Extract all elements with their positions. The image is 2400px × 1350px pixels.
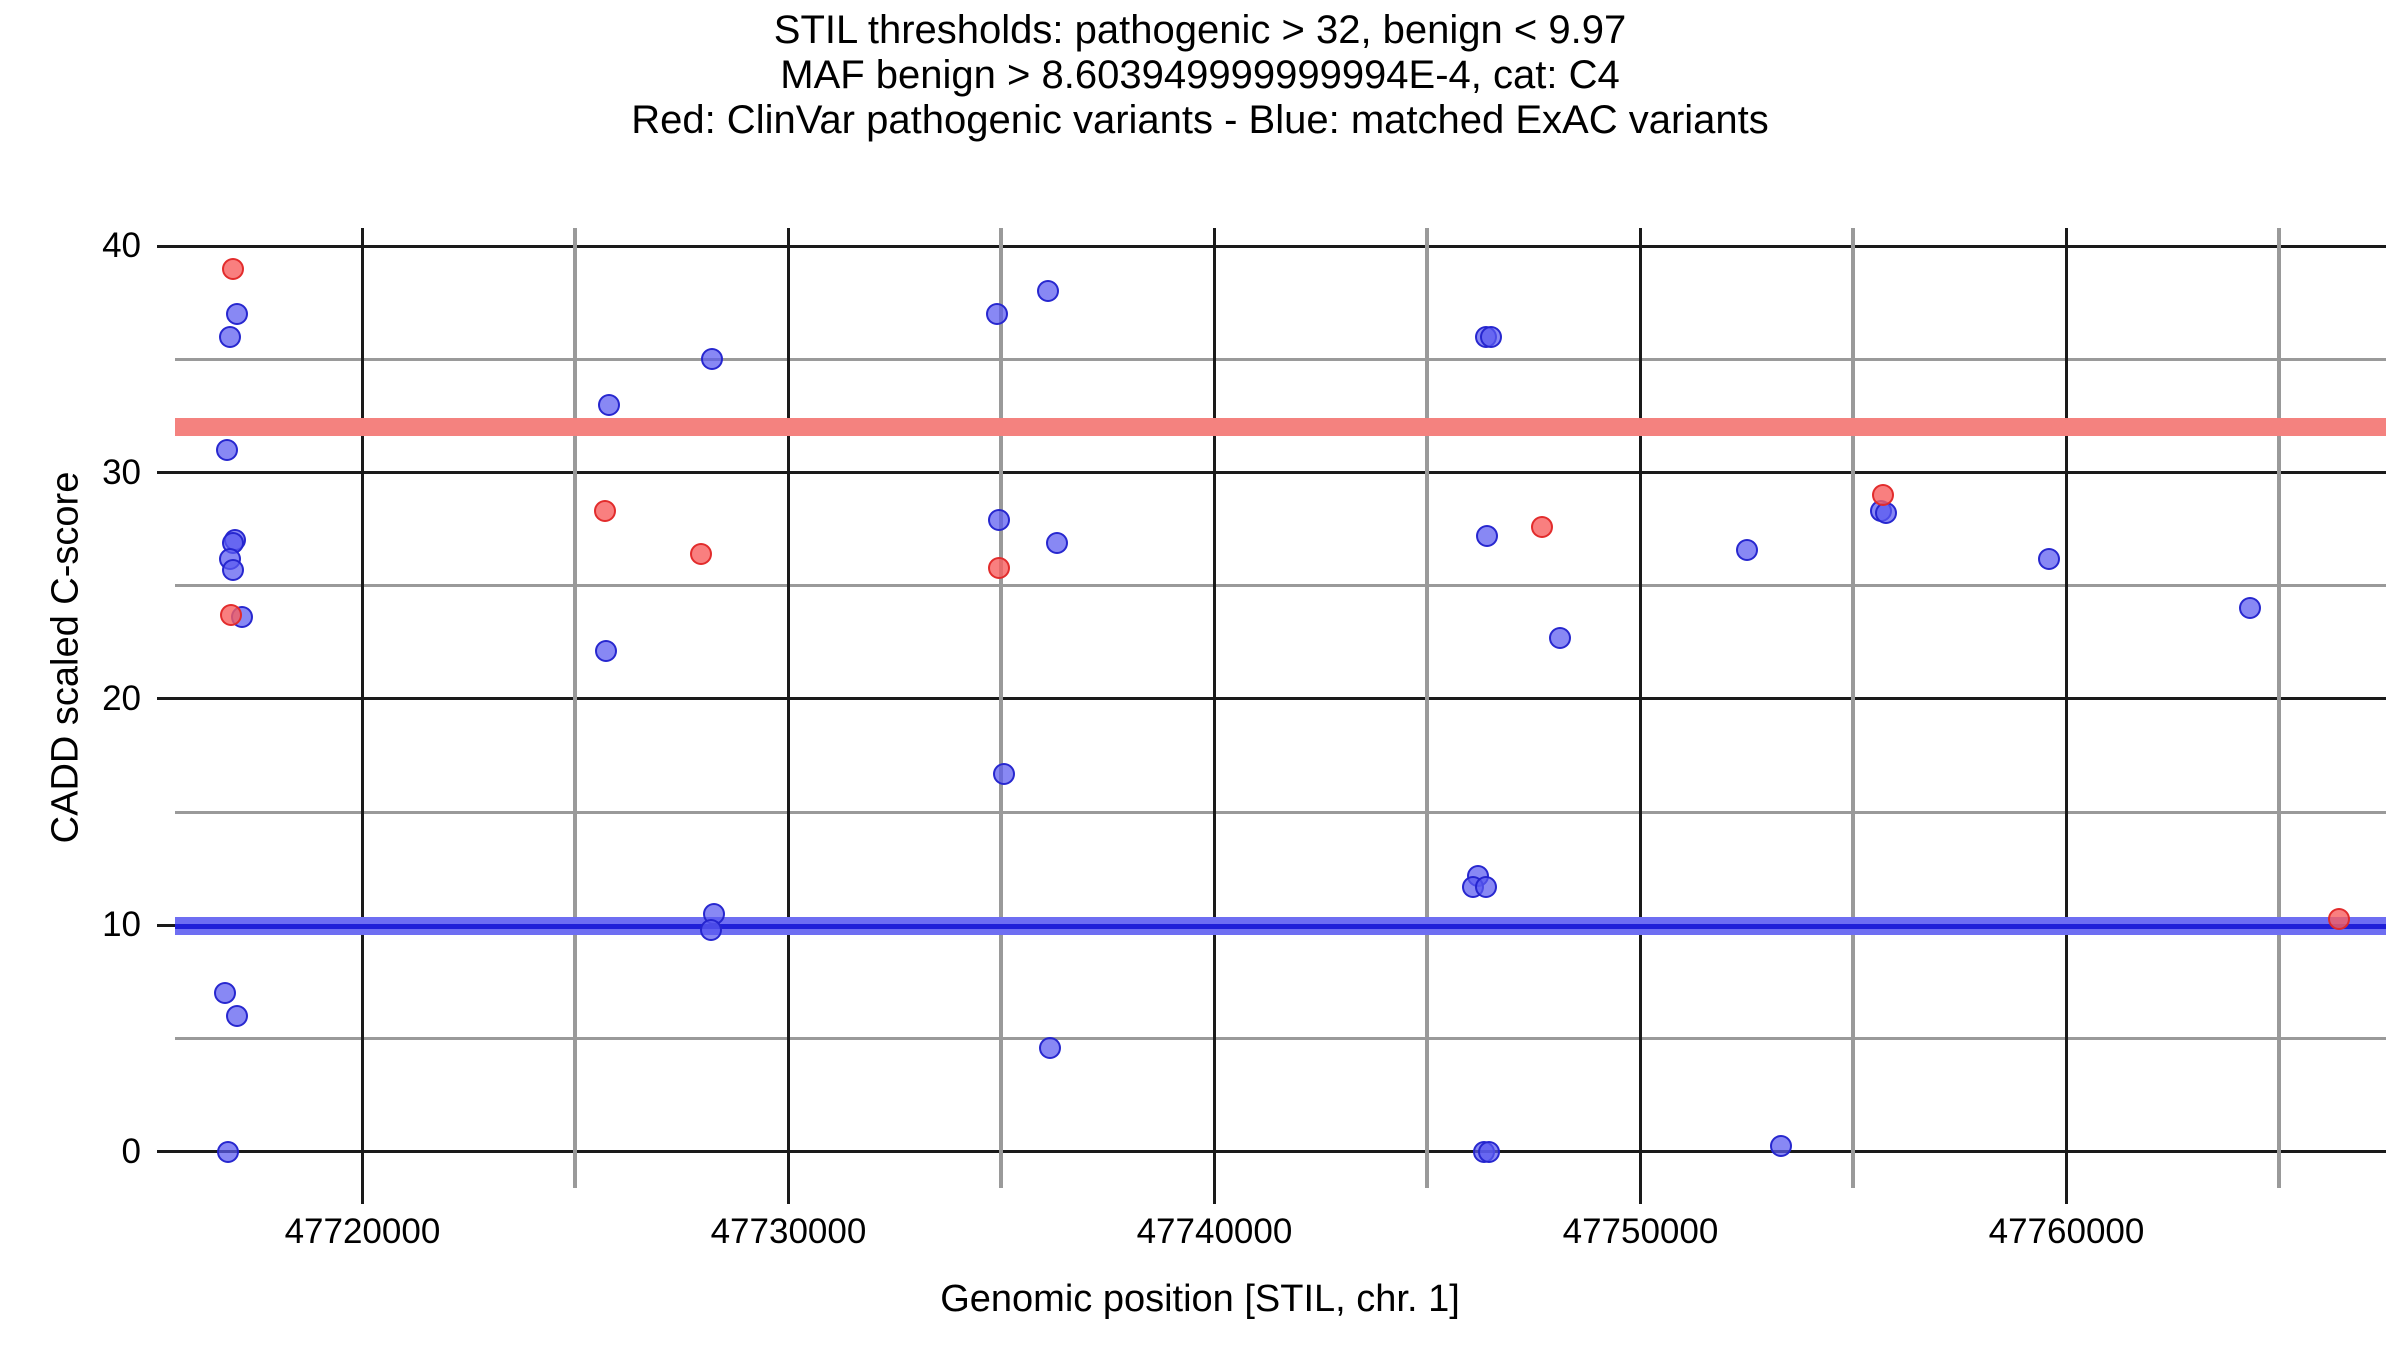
data-point-exac	[700, 919, 722, 941]
x-axis-tick-mark	[2065, 1188, 2068, 1204]
x-axis-tick-mark	[1639, 1188, 1642, 1204]
y-axis-label: CADD scaled C-score	[45, 258, 88, 1058]
data-point-exac	[993, 763, 1015, 785]
y-axis-tick-mark	[157, 1150, 175, 1153]
data-point-exac	[1478, 1141, 1500, 1163]
y-axis-tick-label: 0	[0, 1134, 141, 1169]
data-point-pathogenic	[690, 543, 712, 565]
data-point-exac	[222, 559, 244, 581]
data-point-pathogenic	[988, 557, 1010, 579]
gridline-vertical-major	[1639, 228, 1642, 1188]
data-point-exac	[701, 348, 723, 370]
gridline-vertical-major	[787, 228, 790, 1188]
x-axis-label: Genomic position [STIL, chr. 1]	[0, 1278, 2400, 1321]
data-point-exac	[226, 303, 248, 325]
data-point-exac	[214, 982, 236, 1004]
y-axis-tick-mark	[157, 471, 175, 474]
gridline-vertical-minor	[1851, 228, 1855, 1188]
data-point-exac	[219, 326, 241, 348]
y-axis-tick-mark	[157, 245, 175, 248]
data-point-exac	[988, 509, 1010, 531]
data-point-exac	[1046, 532, 1068, 554]
gridline-horizontal-major	[175, 245, 2386, 248]
data-point-exac	[595, 640, 617, 662]
data-point-exac	[986, 303, 1008, 325]
data-point-exac	[1549, 627, 1571, 649]
data-point-exac	[216, 439, 238, 461]
data-point-exac	[2239, 597, 2261, 619]
data-point-pathogenic	[1531, 516, 1553, 538]
plot-area	[175, 228, 2386, 1188]
x-axis-tick-label: 47760000	[1989, 1214, 2145, 1249]
y-axis-tick-mark	[157, 924, 175, 927]
gridline-horizontal-minor	[175, 584, 2386, 587]
x-axis-tick-mark	[1213, 1188, 1216, 1204]
threshold-line-benign	[175, 924, 2386, 929]
data-point-exac	[1475, 876, 1497, 898]
data-point-exac	[226, 1005, 248, 1027]
data-point-pathogenic	[222, 258, 244, 280]
x-axis-tick-mark	[361, 1188, 364, 1204]
data-point-exac	[1476, 525, 1498, 547]
chart-title: STIL thresholds: pathogenic > 32, benign…	[0, 8, 2400, 143]
gridline-horizontal-minor	[175, 811, 2386, 814]
x-axis-tick-mark	[787, 1188, 790, 1204]
data-point-exac	[1770, 1135, 1792, 1157]
gridline-vertical-major	[1213, 228, 1216, 1188]
gridline-horizontal-minor	[175, 1037, 2386, 1040]
data-point-exac	[1736, 539, 1758, 561]
y-axis-tick-mark	[157, 697, 175, 700]
chart-title-line-1: STIL thresholds: pathogenic > 32, benign…	[0, 8, 2400, 53]
gridline-vertical-minor	[573, 228, 577, 1188]
gridline-horizontal-minor	[175, 358, 2386, 361]
gridline-vertical-minor	[2277, 228, 2281, 1188]
data-point-exac	[1480, 326, 1502, 348]
gridline-vertical-minor	[999, 228, 1003, 1188]
gridline-horizontal-major	[175, 1150, 2386, 1153]
data-point-exac	[1037, 280, 1059, 302]
x-axis-tick-label: 47730000	[711, 1214, 867, 1249]
data-point-exac	[598, 394, 620, 416]
data-point-exac	[217, 1141, 239, 1163]
x-axis-tick-label: 47740000	[1137, 1214, 1293, 1249]
x-axis-tick-label: 47720000	[285, 1214, 441, 1249]
data-point-pathogenic	[594, 500, 616, 522]
gridline-vertical-major	[2065, 228, 2068, 1188]
data-point-exac	[1039, 1037, 1061, 1059]
threshold-band-pathogenic	[175, 418, 2386, 436]
gridline-horizontal-major	[175, 471, 2386, 474]
chart-title-line-2: MAF benign > 8.603949999999994E-4, cat: …	[0, 53, 2400, 98]
data-point-exac	[2038, 548, 2060, 570]
chart-title-line-3: Red: ClinVar pathogenic variants - Blue:…	[0, 98, 2400, 143]
gridline-horizontal-major	[175, 697, 2386, 700]
scatter-plot-figure: STIL thresholds: pathogenic > 32, benign…	[0, 0, 2400, 1350]
x-axis-tick-label: 47750000	[1563, 1214, 1719, 1249]
gridline-vertical-major	[361, 228, 364, 1188]
data-point-pathogenic	[2328, 908, 2350, 930]
gridline-vertical-minor	[1425, 228, 1429, 1188]
